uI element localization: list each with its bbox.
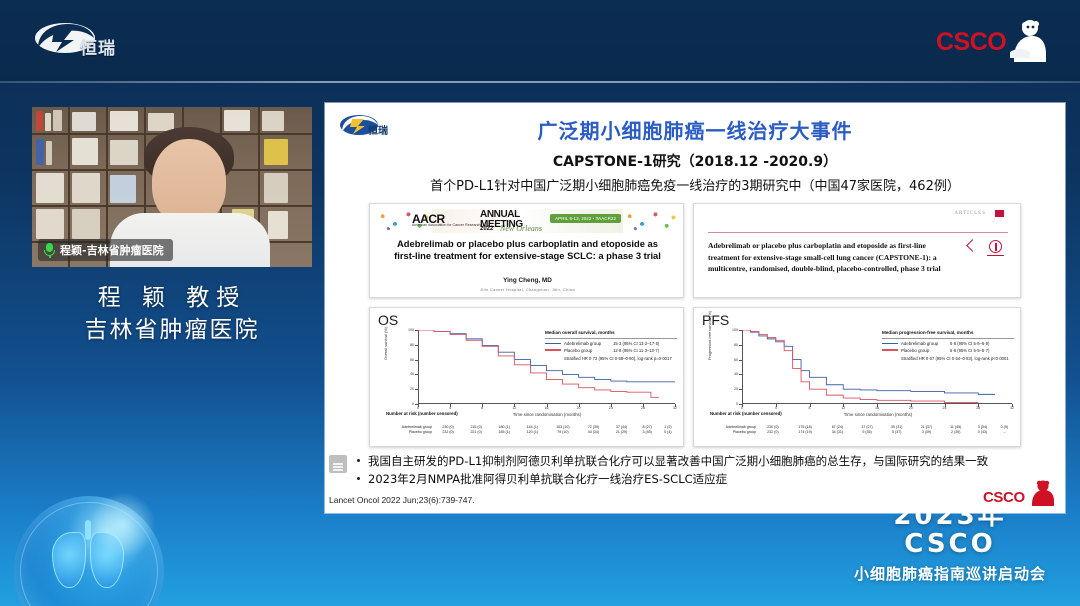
os-xtick-16: 16 (545, 406, 549, 410)
lancet-article-title: Adebrelimab or placebo plus carboplatin … (708, 240, 958, 275)
os-legend-median-1: 12·8 (95% CI 11·3–13·7) (613, 348, 659, 353)
os-risk-header: Number at risk (number censored) (386, 411, 458, 417)
pfs-y-axis-title: Progression-free survival (%) (708, 311, 712, 360)
pfs-xtick-0: 0 (741, 406, 743, 410)
pfs-risk-header: Number at risk (number censored) (710, 411, 782, 417)
aacr-banner: AACR American Association for Cancer Res… (376, 209, 679, 233)
csco-slide-text: CSCO (983, 489, 1025, 506)
os-ytick-40: 40 (410, 372, 414, 376)
os-ytick-20: 20 (410, 387, 414, 391)
pfs-xtick-28: 28 (976, 406, 980, 410)
risk-row-label: Placebo group (700, 430, 758, 435)
os-xtick-20: 20 (577, 406, 581, 410)
pfs-ytick-0: 0 (736, 402, 738, 406)
csco-logo-text: CSCO (936, 28, 1006, 57)
pfs-xtick-24: 24 (943, 406, 947, 410)
event-branding: 2023年CSCO 小细胞肺癌指南巡讲启动会 (848, 502, 1052, 584)
os-xtick-32: 32 (673, 406, 677, 410)
pfs-number-at-risk: Number at risk (number censored) Adebrel… (700, 411, 1014, 443)
pfs-legend-title: Median progression-free survival, months (882, 330, 1014, 336)
risk-cell: 221 (0) (462, 430, 490, 435)
speaker-organization: 吉林省肿瘤医院 (32, 310, 312, 344)
table-row: Placebo group232 (0)221 (0)185 (1)120 (1… (376, 430, 677, 435)
top-bar: 恒瑞 CSCO (0, 0, 1080, 82)
pfs-risk-table: Adebrelimab group230 (0)175 (18)67 (24)3… (700, 425, 1014, 435)
pfs-legend: Median progression-free survival, months… (882, 330, 1014, 362)
speaker-name: 程 颖 教授 (32, 278, 312, 312)
csco-slide-panda-icon (1027, 479, 1055, 507)
slide-subtitle-line: 首个PD-L1针对中国广泛期小细胞肺癌免疫一线治疗的3期研究中（中国47家医院，… (325, 175, 1065, 194)
crossmark-icon (989, 240, 1002, 253)
os-y-axis-title: Overall survival (%) (384, 327, 388, 360)
os-legend-title: Median overall survival, months (545, 330, 677, 336)
annual-meeting-city: New Orleans (500, 224, 542, 233)
hengrui-logo: 恒瑞 (34, 20, 154, 62)
os-xtick-28: 28 (641, 406, 645, 410)
os-legend-item-placebo: Placebo group 12·8 (95% CI 11·3–13·7) (545, 348, 677, 353)
pfs-xtick-8: 8 (809, 406, 811, 410)
os-legend-item-adebrelimab: Adebrelimab group 15·3 (95% CI 13·2–17·5… (545, 341, 677, 346)
risk-cell: 2 (39) (941, 430, 970, 435)
risk-cell: 3 (45) (636, 430, 659, 435)
risk-cell: 79 (10) (546, 430, 579, 435)
os-legend: Median overall survival, months Adebreli… (545, 330, 677, 362)
risk-cell: 5 (37) (882, 430, 912, 435)
risk-cell: 0 (43) (970, 430, 994, 435)
pfs-xtick-12: 12 (841, 406, 845, 410)
pfs-chart-card: PFS 100 80 60 40 20 0 0 4 8 12 (693, 307, 1021, 447)
aacr-poster-author: Ying Cheng, MD (370, 277, 684, 284)
pfs-xtick-4: 4 (775, 406, 777, 410)
risk-cell: – (995, 430, 1014, 435)
pfs-statistics: Stratified HR 0·67 (95% CI 0·54–0·83), l… (901, 356, 1014, 362)
journal-section-label: ARTICLES (954, 211, 986, 216)
risk-cell: 3 (39) (912, 430, 942, 435)
table-row: Placebo group232 (0)174 (19)34 (31)9 (35… (700, 430, 1014, 435)
microphone-icon (44, 243, 55, 258)
video-nameplate: 程颖-吉林省肿瘤医院 (38, 239, 173, 261)
risk-cell: 0 (4) (659, 430, 677, 435)
risk-cell: 34 (31) (823, 430, 853, 435)
risk-cell: 174 (19) (788, 430, 823, 435)
pfs-xtick-16: 16 (875, 406, 879, 410)
hengrui-logo-cn: 恒瑞 (80, 34, 116, 59)
os-number-at-risk: Number at risk (number censored) Adebrel… (376, 411, 677, 443)
os-statistics: Stratified HR 0·72 (95% CI 0·58–0·90), l… (564, 356, 677, 362)
slide-trial-line: CAPSTONE-1研究（2018.12 -2020.9） (325, 151, 1065, 171)
risk-cell: 185 (1) (490, 430, 518, 435)
speaker-video-tile[interactable]: 程颖-吉林省肿瘤医院 (32, 107, 312, 267)
pfs-legend-median-1: 5·6 (95% CI 5·5–5·7) (950, 348, 989, 353)
slide-panel[interactable]: 恒瑞 广泛期小细胞肺癌一线治疗大事件 CAPSTONE-1研究（2018.12 … (325, 103, 1065, 513)
lancet-divider (708, 232, 1008, 233)
globe-lungs-icon (14, 496, 164, 606)
csco-logo-top: CSCO (936, 22, 1048, 62)
aacr-poster-card: AACR American Association for Cancer Res… (369, 203, 684, 298)
os-xtick-4: 4 (449, 406, 451, 410)
list-menu-icon[interactable] (329, 455, 347, 473)
risk-cell: 232 (0) (758, 430, 788, 435)
pfs-xtick-32: 32 (1010, 406, 1014, 410)
bullet-item: 我国自主研发的PD-L1抑制剂阿德贝利单抗联合化疗可以显著改善中国广泛期小细胞肺… (357, 454, 1025, 468)
bullet-text-0: 我国自主研发的PD-L1抑制剂阿德贝利单抗联合化疗可以显著改善中国广泛期小细胞肺… (368, 454, 988, 468)
os-chart-card: OS 100 80 60 40 20 0 0 4 8 12 (369, 307, 684, 447)
pen-icon (966, 239, 979, 252)
pfs-ytick-80: 80 (734, 343, 738, 347)
pfs-ytick-20: 20 (734, 387, 738, 391)
pfs-legend-item-placebo: Placebo group 5·6 (95% CI 5·5–5·7) (882, 348, 1014, 353)
presentation-stage: 恒瑞 CSCO (0, 0, 1080, 606)
csco-panda-icon (1004, 18, 1048, 64)
bullet-item: 2023年2月NMPA批准阿得贝利单抗联合化疗一线治疗ES-SCLC适应症 (357, 472, 1025, 486)
os-xtick-24: 24 (609, 406, 613, 410)
bullet-text-1: 2023年2月NMPA批准阿得贝利单抗联合化疗一线治疗ES-SCLC适应症 (368, 472, 727, 486)
pfs-legend-median-0: 5·8 (95% CI 5·6–6·9) (950, 341, 989, 346)
os-ytick-60: 60 (410, 358, 414, 362)
event-title-line2: 小细胞肺癌指南巡讲启动会 (848, 563, 1052, 584)
os-risk-tbody: Adebrelimab group230 (0)215 (0)180 (1)14… (376, 425, 677, 435)
risk-row-label: Placebo group (376, 430, 434, 435)
top-bar-divider (0, 81, 1080, 83)
os-legend-name-1: Placebo group (564, 348, 610, 353)
pfs-panel-label: PFS (702, 312, 729, 328)
os-legend-name-0: Adebrelimab group (564, 341, 610, 346)
os-legend-median-0: 15·3 (95% CI 13·2–17·5) (613, 341, 659, 346)
pfs-ytick-40: 40 (734, 372, 738, 376)
risk-cell: 44 (34) (579, 430, 607, 435)
pfs-risk-tbody: Adebrelimab group230 (0)175 (18)67 (24)3… (700, 425, 1014, 435)
os-xtick-12: 12 (512, 406, 516, 410)
pfs-ytick-100: 100 (732, 328, 738, 332)
aacr-poster-affiliation: Jilin Cancer Hospital, Changchun, Jilin,… (370, 287, 684, 292)
slide-citation: Lancet Oncol 2022 Jun;23(6):739-747. (329, 495, 475, 505)
pfs-legend-item-adebrelimab: Adebrelimab group 5·8 (95% CI 5·6–6·9) (882, 341, 1014, 346)
os-xtick-8: 8 (481, 406, 483, 410)
risk-cell: 232 (0) (434, 430, 462, 435)
pfs-legend-name-1: Placebo group (901, 348, 947, 353)
risk-cell: 21 (29) (607, 430, 635, 435)
os-ytick-80: 80 (410, 343, 414, 347)
csco-logo-slide: CSCO (983, 481, 1055, 507)
os-panel-label: OS (378, 312, 398, 328)
os-ytick-0: 0 (412, 402, 414, 406)
pfs-ytick-60: 60 (734, 358, 738, 362)
os-ytick-100: 100 (408, 328, 414, 332)
slide-title: 广泛期小细胞肺癌一线治疗大事件 (325, 115, 1065, 144)
lancet-article-card: ARTICLES Adebrelimab or placebo plus car… (693, 203, 1021, 298)
risk-cell: 9 (35) (852, 430, 882, 435)
annual-meeting-year: 2022 (480, 226, 493, 232)
aacr-date-badge: APRIL 8-13, 2022 • #AACR22 (550, 214, 621, 223)
pfs-xtick-20: 20 (909, 406, 913, 410)
slide-bullet-list: 我国自主研发的PD-L1抑制剂阿德贝利单抗联合化疗可以显著改善中国广泛期小细胞肺… (357, 454, 1025, 491)
lancet-logo-icon (995, 210, 1004, 217)
aacr-poster-title: Adebrelimab or placebo plus carboplatin … (386, 238, 669, 263)
lancet-crossmark-icons (968, 240, 1004, 258)
os-xtick-0: 0 (417, 406, 419, 410)
pfs-legend-name-0: Adebrelimab group (901, 341, 947, 346)
aacr-subtitle: American Association for Cancer Research (412, 223, 481, 228)
risk-cell: 120 (1) (518, 430, 546, 435)
os-risk-table: Adebrelimab group230 (0)215 (0)180 (1)14… (376, 425, 677, 435)
video-nameplate-label: 程颖-吉林省肿瘤医院 (60, 242, 164, 258)
